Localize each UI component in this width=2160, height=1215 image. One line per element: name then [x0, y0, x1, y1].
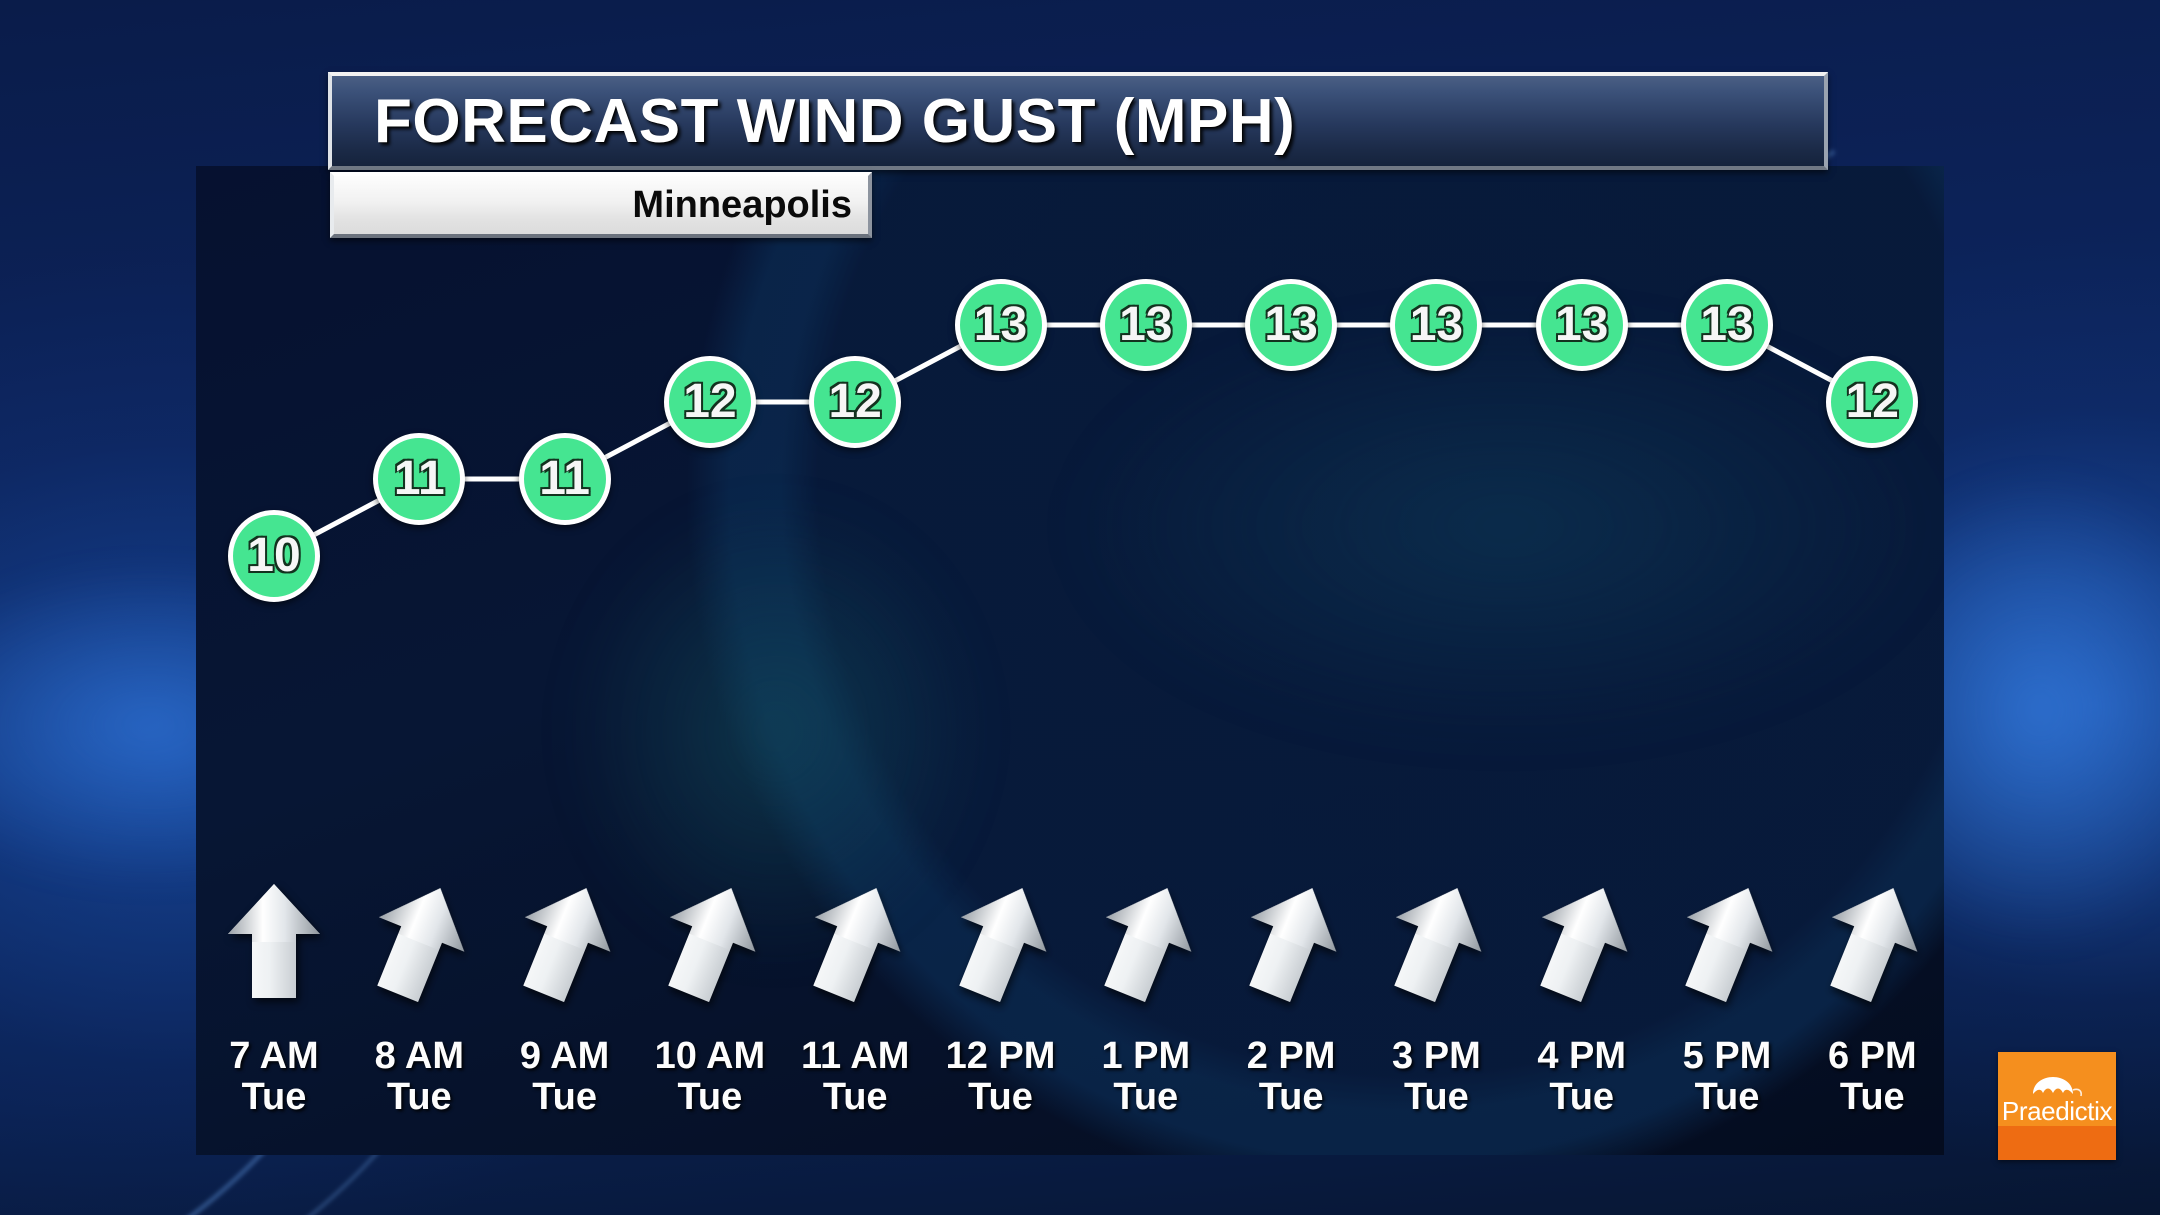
data-point-value: 12 — [828, 378, 881, 426]
data-point: 10 — [228, 510, 320, 602]
data-point: 13 — [1245, 279, 1337, 371]
time-label-hour: 12 PM — [946, 1035, 1056, 1077]
time-axis-label: 6 PMTue — [1782, 1036, 1944, 1117]
page-title: FORECAST WIND GUST (MPH) — [374, 86, 1295, 157]
data-point: 13 — [955, 279, 1047, 371]
time-label-hour: 4 PM — [1537, 1035, 1626, 1077]
data-point: 13 — [1100, 279, 1192, 371]
title-bar: FORECAST WIND GUST (MPH) — [328, 72, 1828, 170]
weather-graphic: 101111121213131313131312 7 AMTue8 AMTue9… — [0, 0, 2160, 1215]
data-point-value: 13 — [1700, 301, 1753, 349]
data-point-value: 12 — [1846, 378, 1899, 426]
arrow-glyph — [226, 882, 322, 1000]
data-point-value: 13 — [1264, 301, 1317, 349]
time-label-hour: 5 PM — [1683, 1035, 1772, 1077]
time-label-hour: 7 AM — [229, 1035, 318, 1077]
data-point: 11 — [519, 433, 611, 525]
wind-direction-arrow — [226, 882, 322, 1000]
logo-text: Praedictix — [1998, 1096, 2116, 1127]
time-label-hour: 8 AM — [375, 1035, 464, 1077]
data-point-value: 13 — [1555, 301, 1608, 349]
data-point: 13 — [1681, 279, 1773, 371]
logo-bottom-stripe — [1998, 1126, 2116, 1160]
line-chart-plot: 101111121213131313131312 7 AMTue8 AMTue9… — [196, 166, 1944, 1155]
location-label: Minneapolis — [632, 184, 852, 227]
chart-panel: 101111121213131313131312 7 AMTue8 AMTue9… — [196, 166, 1944, 1155]
time-label-day: Tue — [1782, 1077, 1944, 1118]
time-label-hour: 2 PM — [1247, 1035, 1336, 1077]
data-point: 13 — [1390, 279, 1482, 371]
data-point-value: 13 — [1119, 301, 1172, 349]
data-point-value: 11 — [539, 455, 590, 503]
time-label-hour: 6 PM — [1828, 1035, 1917, 1077]
data-point-value: 12 — [683, 378, 736, 426]
data-point: 12 — [809, 356, 901, 448]
data-point: 13 — [1536, 279, 1628, 371]
data-point-value: 10 — [247, 532, 300, 580]
data-point-value: 13 — [1410, 301, 1463, 349]
time-label-hour: 11 AM — [801, 1035, 909, 1077]
time-label-hour: 1 PM — [1101, 1035, 1190, 1077]
data-point-value: 13 — [974, 301, 1027, 349]
data-point: 12 — [664, 356, 756, 448]
time-label-hour: 9 AM — [520, 1035, 609, 1077]
location-bar: Minneapolis — [330, 172, 872, 238]
data-point-value: 11 — [394, 455, 445, 503]
data-point: 12 — [1826, 356, 1918, 448]
data-point: 11 — [373, 433, 465, 525]
time-label-hour: 10 AM — [655, 1035, 766, 1077]
praedictix-logo[interactable]: Praedictix — [1998, 1052, 2116, 1160]
time-label-hour: 3 PM — [1392, 1035, 1481, 1077]
